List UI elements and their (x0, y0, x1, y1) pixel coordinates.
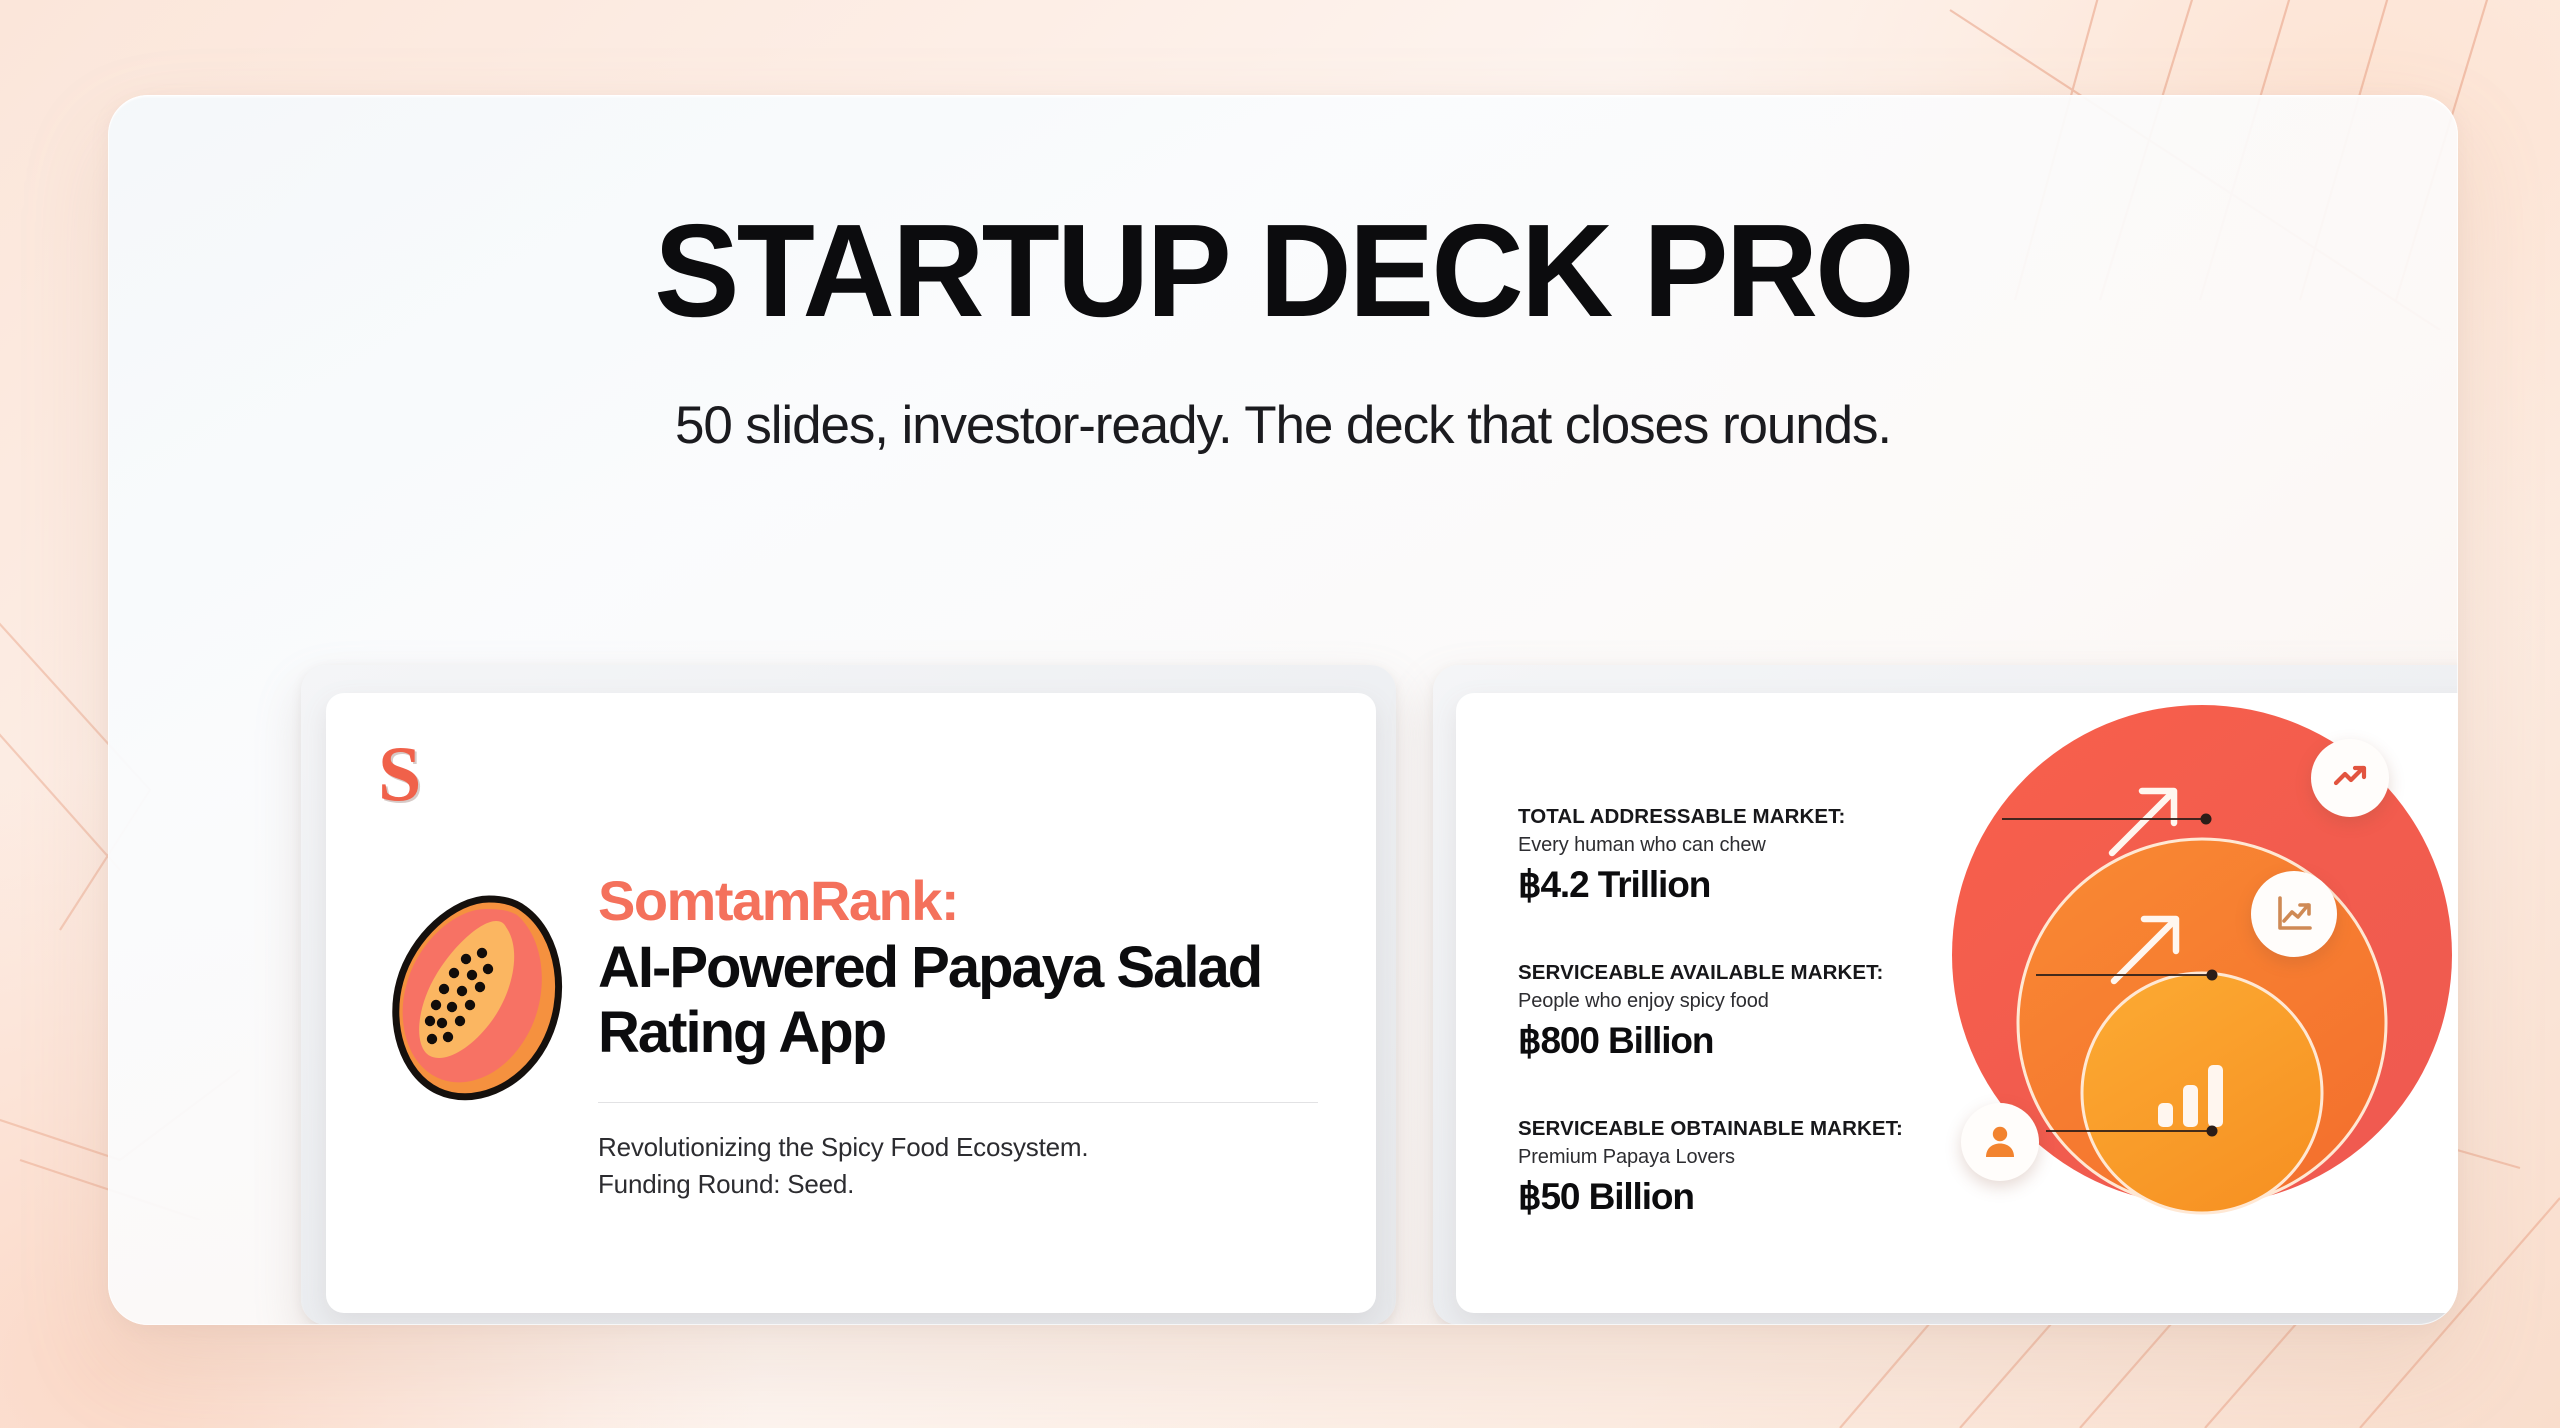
market-block-tam: TOTAL ADDRESSABLE MARKET: Every human wh… (1518, 805, 1988, 906)
page-subtitle: 50 slides, investor-ready. The deck that… (108, 395, 2458, 456)
market-value: ฿4.2 Trillion (1518, 863, 1988, 906)
market-description: People who enjoy spicy food (1518, 990, 1988, 1013)
market-value: ฿800 Billion (1518, 1019, 1988, 1062)
title-slide-text: SomtamRank: AI-Powered Papaya Salad Rati… (598, 871, 1318, 1203)
main-panel: STARTUP DECK PRO 50 slides, investor-rea… (108, 95, 2458, 1325)
market-label: SERVICEABLE AVAILABLE MARKET: (1518, 961, 1988, 985)
market-block-sam: SERVICEABLE AVAILABLE MARKET: People who… (1518, 961, 1988, 1062)
market-value: ฿50 Billion (1518, 1175, 1988, 1218)
market-block-som: SERVICEABLE OBTAINABLE MARKET: Premium P… (1518, 1117, 1988, 1218)
page-title: STARTUP DECK PRO (143, 205, 2423, 337)
market-description: Every human who can chew (1518, 834, 1988, 857)
user-icon (1961, 1103, 2039, 1181)
papaya-icon (384, 893, 574, 1108)
divider (598, 1102, 1318, 1103)
brand-logo-s: S (378, 735, 421, 813)
market-description: Premium Papaya Lovers (1518, 1146, 1988, 1169)
brand-name: SomtamRank: (598, 871, 1318, 930)
slide-headline: AI-Powered Papaya Salad Rating App (598, 936, 1318, 1066)
page-root: STARTUP DECK PRO 50 slides, investor-rea… (0, 0, 2560, 1428)
slide-footer-line-2: Funding Round: Seed. (598, 1166, 1318, 1203)
market-label: SERVICEABLE OBTAINABLE MARKET: (1518, 1117, 1988, 1141)
title-slide-card[interactable]: S (326, 693, 1376, 1313)
market-label: TOTAL ADDRESSABLE MARKET: (1518, 805, 1988, 829)
slide-footer: Revolutionizing the Spicy Food Ecosystem… (598, 1129, 1318, 1203)
slide-footer-line-1: Revolutionizing the Spicy Food Ecosystem… (598, 1129, 1318, 1166)
trend-up-icon (2311, 739, 2389, 817)
market-size-slide-card[interactable]: TOTAL ADDRESSABLE MARKET: Every human wh… (1456, 693, 2458, 1313)
line-chart-icon (2251, 871, 2337, 957)
